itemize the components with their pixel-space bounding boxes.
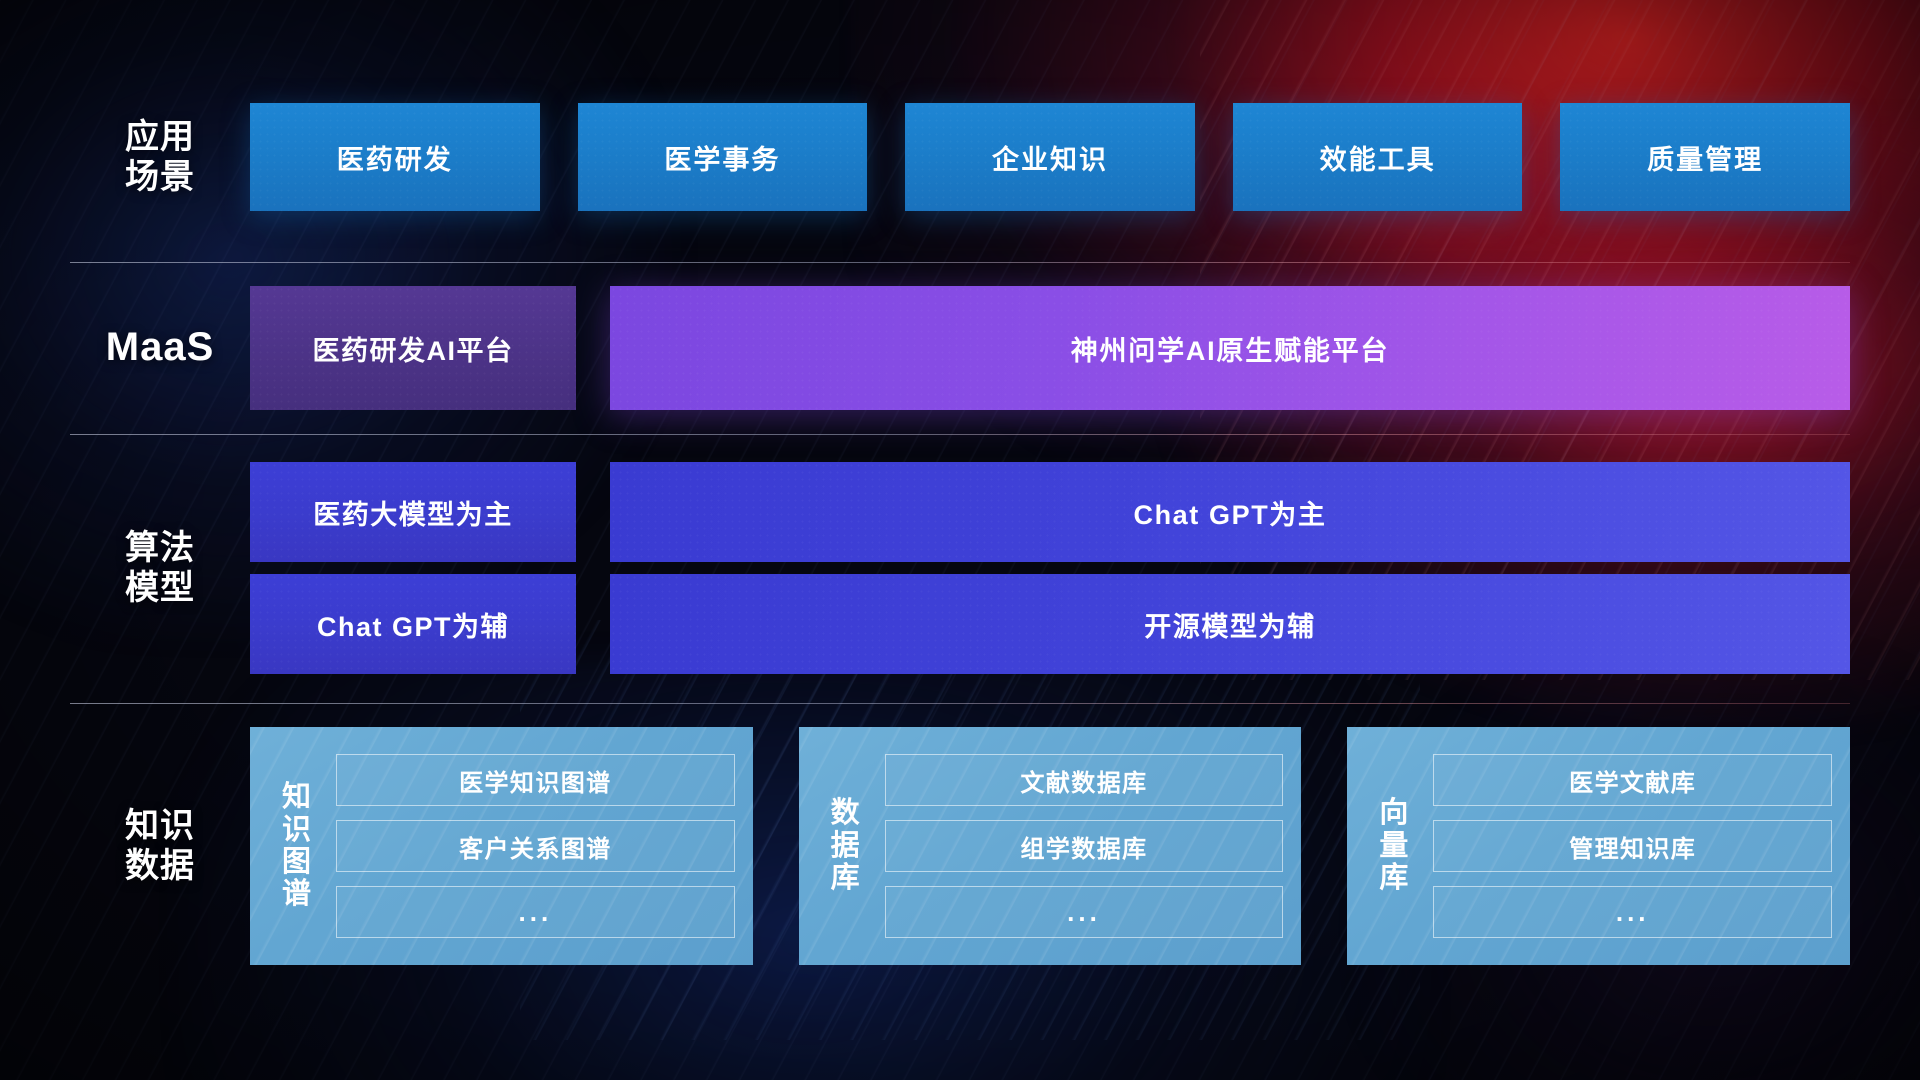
- knowledge-item-customer-relation-graph[interactable]: 客户关系图谱: [336, 820, 735, 872]
- divider-apps-maas: [70, 262, 1850, 263]
- app-card-medical-affairs[interactable]: 医学事务: [578, 103, 868, 211]
- knowledge-group-vector-store[interactable]: 向 量 库 医学文献库 管理知识库 ...: [1347, 727, 1850, 965]
- algo-card-drug-large-model-primary[interactable]: 医药大模型为主: [250, 462, 576, 562]
- knowledge-group-title-knowledge-graph: 知 识 图 谱: [258, 781, 336, 911]
- app-card-drug-rd[interactable]: 医药研发: [250, 103, 540, 211]
- maas-card-shenzhou-wenxue-platform[interactable]: 神州问学AI原生赋能平台: [610, 286, 1850, 410]
- knowledge-item-more-database[interactable]: ...: [885, 886, 1284, 938]
- row-knowledge-data: 知识 数据 知 识 图 谱 医学知识图谱 客户关系图谱 ... 数 据 库 文献…: [70, 726, 1920, 966]
- app-card-efficiency-tools[interactable]: 效能工具: [1233, 103, 1523, 211]
- knowledge-item-management-knowledge-store[interactable]: 管理知识库: [1433, 820, 1832, 872]
- knowledge-item-omics-database[interactable]: 组学数据库: [885, 820, 1284, 872]
- knowledge-item-literature-database[interactable]: 文献数据库: [885, 754, 1284, 806]
- divider-algo-knowledge: [70, 703, 1850, 704]
- algorithm-row-primary: 医药大模型为主 Chat GPT为主: [250, 462, 1850, 562]
- architecture-diagram-canvas: 应用 场景 医药研发 医学事务 企业知识 效能工具 质量管理 MaaS 医药研发…: [0, 0, 1920, 1080]
- row-label-maas: MaaS: [70, 324, 250, 371]
- maas-card-drug-rd-ai-platform[interactable]: 医药研发AI平台: [250, 286, 576, 410]
- knowledge-item-list-knowledge-graph: 医学知识图谱 客户关系图谱 ...: [336, 754, 735, 938]
- knowledge-item-more-vector-store[interactable]: ...: [1433, 886, 1832, 938]
- row-label-algorithm-models: 算法 模型: [70, 528, 250, 608]
- knowledge-group-database[interactable]: 数 据 库 文献数据库 组学数据库 ...: [799, 727, 1302, 965]
- app-card-quality-management[interactable]: 质量管理: [1560, 103, 1850, 211]
- knowledge-item-list-vector-store: 医学文献库 管理知识库 ...: [1433, 754, 1832, 938]
- row-application-scenarios: 应用 场景 医药研发 医学事务 企业知识 效能工具 质量管理: [70, 102, 1920, 212]
- knowledge-item-more-knowledge-graph[interactable]: ...: [336, 886, 735, 938]
- algorithm-card-grid: 医药大模型为主 Chat GPT为主 Chat GPT为辅 开源模型为辅: [250, 462, 1920, 674]
- algorithm-row-secondary: Chat GPT为辅 开源模型为辅: [250, 574, 1850, 674]
- divider-maas-algo: [70, 434, 1850, 435]
- row-label-knowledge-data: 知识 数据: [70, 806, 250, 886]
- knowledge-item-list-database: 文献数据库 组学数据库 ...: [885, 754, 1284, 938]
- row-maas: MaaS 医药研发AI平台 神州问学AI原生赋能平台: [70, 292, 1920, 404]
- algo-card-chatgpt-primary[interactable]: Chat GPT为主: [610, 462, 1850, 562]
- maas-card-list: 医药研发AI平台 神州问学AI原生赋能平台: [250, 286, 1920, 410]
- algo-card-chatgpt-secondary[interactable]: Chat GPT为辅: [250, 574, 576, 674]
- knowledge-group-title-database: 数 据 库: [807, 797, 885, 894]
- row-label-application-scenarios: 应用 场景: [70, 117, 250, 197]
- algo-card-opensource-secondary[interactable]: 开源模型为辅: [610, 574, 1850, 674]
- knowledge-item-medical-literature-store[interactable]: 医学文献库: [1433, 754, 1832, 806]
- knowledge-group-title-vector-store: 向 量 库: [1355, 797, 1433, 894]
- app-card-enterprise-knowledge[interactable]: 企业知识: [905, 103, 1195, 211]
- row-algorithm-models: 算法 模型 医药大模型为主 Chat GPT为主 Chat GPT为辅 开源模型…: [70, 456, 1920, 680]
- application-card-list: 医药研发 医学事务 企业知识 效能工具 质量管理: [250, 103, 1920, 211]
- knowledge-group-knowledge-graph[interactable]: 知 识 图 谱 医学知识图谱 客户关系图谱 ...: [250, 727, 753, 965]
- knowledge-item-medical-knowledge-graph[interactable]: 医学知识图谱: [336, 754, 735, 806]
- knowledge-group-list: 知 识 图 谱 医学知识图谱 客户关系图谱 ... 数 据 库 文献数据库 组学…: [250, 727, 1920, 965]
